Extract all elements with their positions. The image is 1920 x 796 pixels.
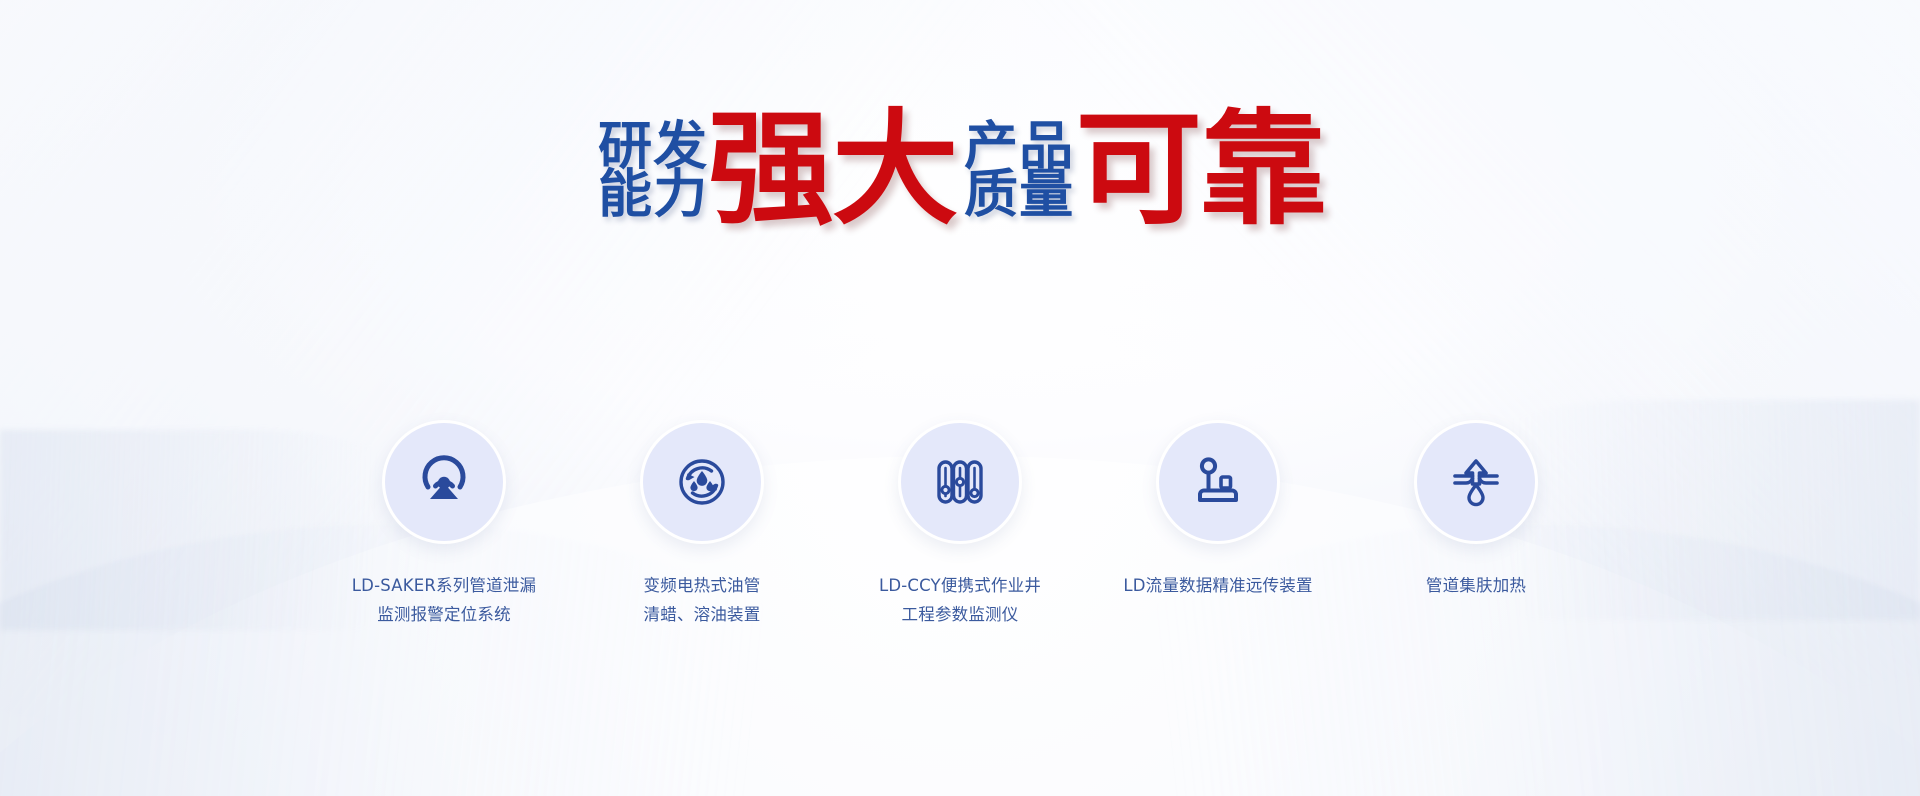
signal-broadcast-icon: [416, 454, 472, 510]
feature-icon-badge[interactable]: [1414, 420, 1538, 544]
feature-caption-line1: 管道集肤加热: [1426, 572, 1526, 601]
feature-list: LD-SAKER系列管道泄漏 监测报警定位系统 变频电热式油管 清蜡、: [0, 420, 1920, 630]
heat-arrow-droplet-icon: [1448, 454, 1504, 510]
feature-caption-line2: 清蜡、溶油装置: [644, 601, 761, 630]
headline-emphasis-strong: 强大: [708, 108, 957, 232]
feature-caption: 管道集肤加热: [1426, 572, 1526, 601]
water-droplets-cycle-icon: [674, 454, 730, 510]
feature-item[interactable]: LD流量数据精准远传装置: [1123, 420, 1313, 601]
headline-rd-line2: 能力: [598, 172, 708, 220]
feature-caption-line2: 工程参数监测仪: [879, 601, 1041, 630]
feature-item[interactable]: 管道集肤加热: [1381, 420, 1571, 601]
feature-icon-badge[interactable]: [898, 420, 1022, 544]
feature-icon-badge[interactable]: [382, 420, 506, 544]
feature-caption: LD-SAKER系列管道泄漏 监测报警定位系统: [352, 572, 536, 630]
headline-group-rd: 研发 能力: [598, 120, 704, 220]
feature-caption-line1: LD-CCY便携式作业井: [879, 572, 1041, 601]
headline-emphasis-reliable: 可靠: [1076, 108, 1325, 232]
vertical-sliders-icon: [932, 454, 988, 510]
feature-caption-line1: 变频电热式油管: [644, 572, 761, 601]
feature-item[interactable]: LD-SAKER系列管道泄漏 监测报警定位系统: [349, 420, 539, 630]
feature-caption-line1: LD-SAKER系列管道泄漏: [352, 572, 536, 601]
feature-caption: LD-CCY便携式作业井 工程参数监测仪: [879, 572, 1041, 630]
headline-group-quality: 产品 质量: [964, 120, 1070, 220]
feature-item[interactable]: LD-CCY便携式作业井 工程参数监测仪: [865, 420, 1055, 630]
headline: 研发 能力 强大 产品 质量 可靠: [0, 108, 1920, 232]
feature-icon-badge[interactable]: [640, 420, 764, 544]
headline-quality-line2: 质量: [964, 172, 1074, 220]
feature-caption: 变频电热式油管 清蜡、溶油装置: [644, 572, 761, 630]
feature-caption-line2: 监测报警定位系统: [352, 601, 536, 630]
feature-item[interactable]: 变频电热式油管 清蜡、溶油装置: [607, 420, 797, 630]
feature-caption: LD流量数据精准远传装置: [1123, 572, 1312, 601]
feature-icon-badge[interactable]: [1156, 420, 1280, 544]
joystick-device-icon: [1190, 454, 1246, 510]
feature-caption-line1: LD流量数据精准远传装置: [1123, 572, 1312, 601]
